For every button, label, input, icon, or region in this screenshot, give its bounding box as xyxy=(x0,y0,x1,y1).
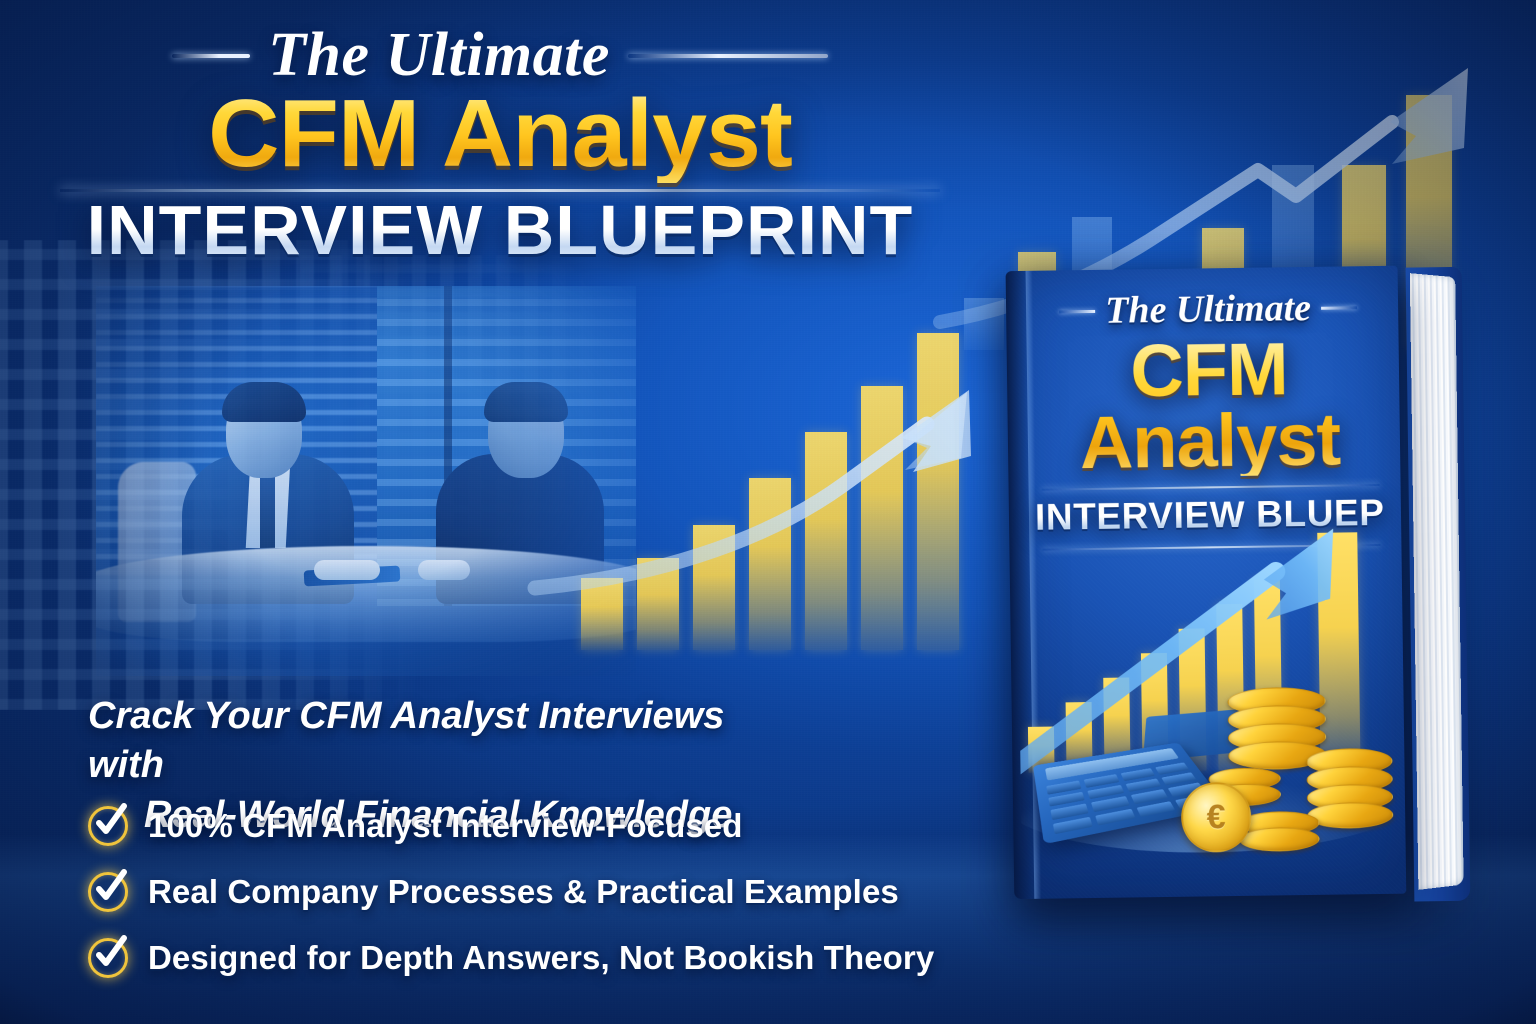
benefit-text: Designed for Depth Answers, Not Bookish … xyxy=(148,939,934,977)
list-item: Designed for Depth Answers, Not Bookish … xyxy=(88,938,934,978)
eyebrow-row: The Ultimate xyxy=(0,24,1000,87)
list-item: Real Company Processes & Practical Examp… xyxy=(88,872,934,912)
book-title-line-2: Analyst xyxy=(1033,403,1386,479)
benefit-text: 100% CFM Analyst Interview-Focused xyxy=(148,807,743,845)
check-circle-icon xyxy=(88,872,128,912)
book-mockup: The Ultimate CFM Analyst INTERVIEW BLUEP… xyxy=(1006,265,1465,911)
promo-poster: The Ultimate CFM Analyst INTERVIEW BLUEP… xyxy=(0,0,1536,1024)
check-circle-icon xyxy=(88,806,128,846)
book-title: CFM Analyst xyxy=(1032,332,1386,479)
headline-eyebrow: The Ultimate xyxy=(268,24,610,87)
benefit-text: Real Company Processes & Practical Examp… xyxy=(148,873,899,911)
book-divider-top xyxy=(1042,484,1380,491)
book-cover-text-block: The Ultimate CFM Analyst INTERVIEW BLUEP… xyxy=(1032,288,1388,557)
benefit-list: 100% CFM Analyst Interview-Focused Real … xyxy=(88,806,934,1004)
book-page-edges xyxy=(1410,273,1464,890)
check-mark-icon xyxy=(88,800,132,844)
book-dash-right-icon xyxy=(1321,306,1357,310)
headline-block: The Ultimate CFM Analyst INTERVIEW BLUEP… xyxy=(0,24,1000,267)
dash-right-icon xyxy=(628,54,828,58)
check-circle-icon xyxy=(88,938,128,978)
book-eyebrow: The Ultimate xyxy=(1105,289,1311,330)
dash-left-icon xyxy=(172,54,250,58)
check-mark-icon xyxy=(88,932,132,976)
check-mark-icon xyxy=(88,866,132,910)
book-eyebrow-row: The Ultimate xyxy=(1032,288,1384,331)
headline-title: CFM Analyst xyxy=(0,85,1015,183)
book-front-cover: The Ultimate CFM Analyst INTERVIEW BLUEP… xyxy=(1006,266,1407,899)
tagline-line-1: Crack Your CFM Analyst Interviews with xyxy=(88,692,788,791)
list-item: 100% CFM Analyst Interview-Focused xyxy=(88,806,934,846)
headline-subtitle: INTERVIEW BLUEPRINT xyxy=(0,194,1000,267)
book-cover-artwork: € xyxy=(1017,526,1398,891)
book-dash-left-icon xyxy=(1059,309,1095,313)
